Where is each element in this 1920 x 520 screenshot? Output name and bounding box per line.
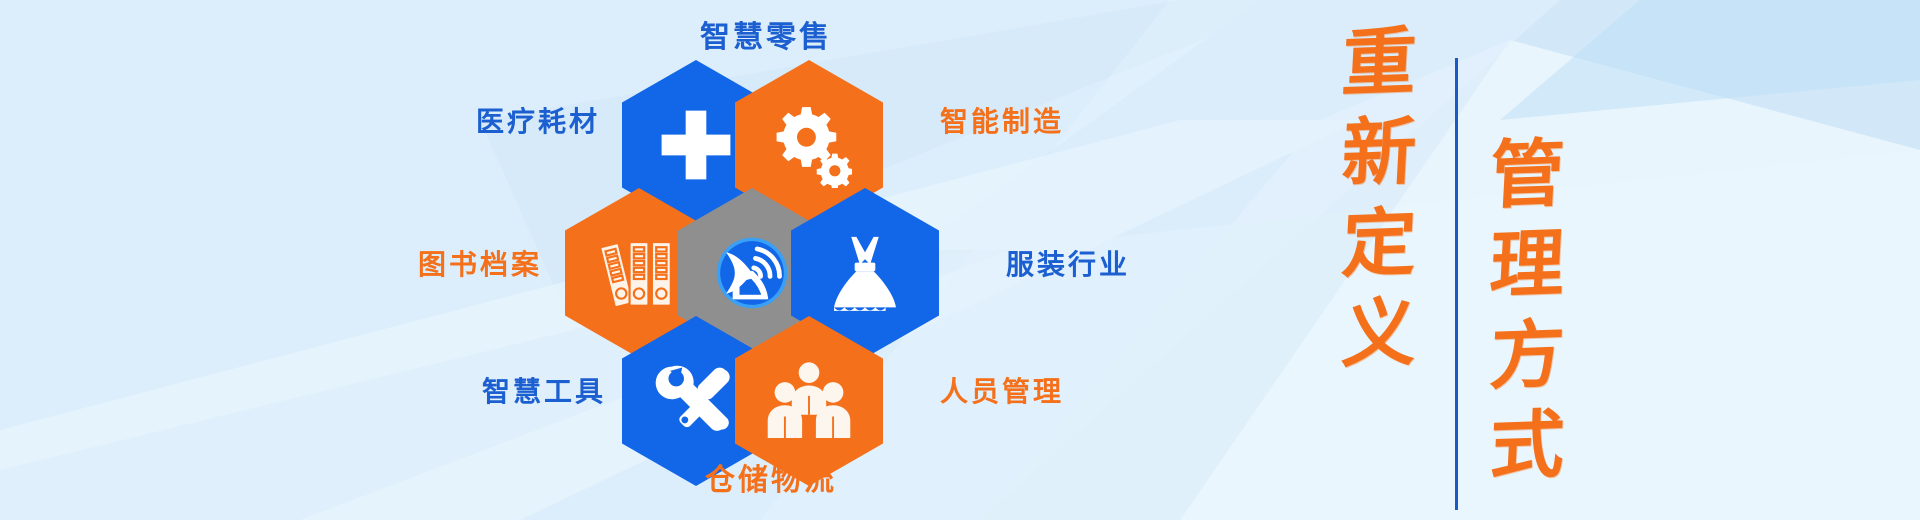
slogan-column-right: 管 理 方 式: [1478, 130, 1576, 520]
slogan-char: 方: [1488, 309, 1567, 402]
medical-cross-icon: [653, 102, 739, 188]
binders-icon: [596, 230, 682, 316]
label-people-management: 人员管理: [940, 370, 1064, 410]
slogan-char: 理: [1488, 219, 1567, 312]
slogan-char: 重: [1340, 17, 1419, 110]
background-polygons: [0, 0, 1920, 520]
banner-stage: 智慧零售 医疗耗材 智能制造 图书档案 服装行业 智慧工具 人员管理 仓储物流 …: [0, 0, 1920, 520]
label-apparel-industry: 服装行业: [1006, 243, 1130, 283]
background-decoration: [0, 0, 1920, 520]
label-smart-manufacturing: 智能制造: [940, 100, 1064, 140]
label-books-archive: 图书档案: [418, 243, 542, 283]
label-smart-retail: 智慧零售: [700, 12, 832, 56]
rfid-logo-icon: [709, 230, 795, 316]
slogan-char: 式: [1488, 400, 1567, 493]
slogan-char: 管: [1488, 129, 1567, 222]
gears-icon: [766, 102, 852, 188]
label-medical-supplies: 医疗耗材: [476, 100, 600, 140]
slogan-char: 新: [1340, 107, 1419, 200]
hexagon-cluster: [560, 60, 940, 460]
slogan-char: 定: [1340, 197, 1419, 290]
three-people-icon: [766, 358, 852, 444]
slogan-char: 义: [1340, 288, 1419, 381]
label-smart-tools: 智慧工具: [482, 370, 606, 410]
slogan-column-left: 重 新 定 义: [1330, 18, 1428, 520]
slogan-divider: [1455, 58, 1458, 510]
wrench-screwdriver-icon: [653, 358, 739, 444]
dress-icon: [822, 230, 908, 316]
label-warehouse-logistics: 仓储物流: [705, 455, 837, 499]
